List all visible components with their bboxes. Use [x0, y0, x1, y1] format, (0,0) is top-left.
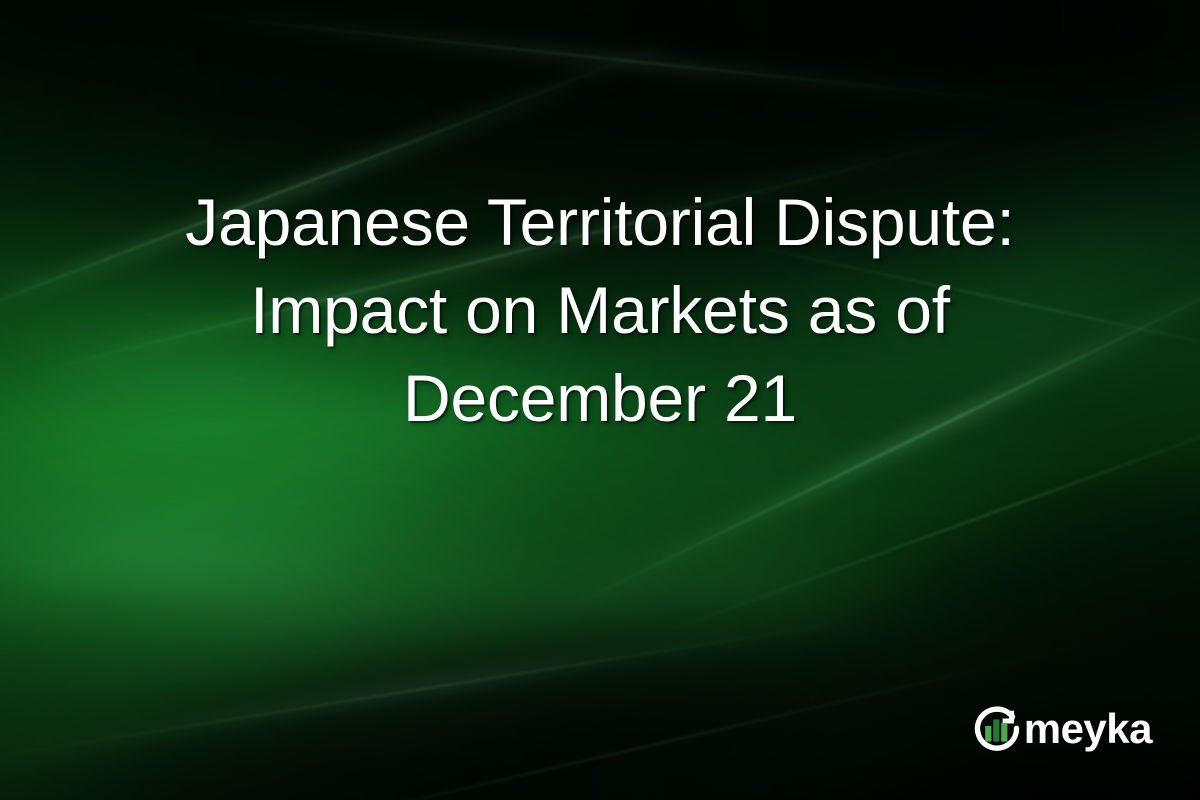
- brand-wordmark: meyka: [1024, 708, 1152, 750]
- title-line-2: Impact on Markets as of: [70, 266, 1130, 354]
- meyka-circular-arc-bar-chart-icon: [972, 702, 1024, 754]
- title-line-1: Japanese Territorial Dispute:: [70, 178, 1130, 266]
- page-title: Japanese Territorial Dispute: Impact on …: [0, 178, 1200, 442]
- title-line-3: December 21: [70, 354, 1130, 442]
- title-card: Japanese Territorial Dispute: Impact on …: [0, 0, 1200, 800]
- brand-logo[interactable]: meyka: [972, 702, 1158, 754]
